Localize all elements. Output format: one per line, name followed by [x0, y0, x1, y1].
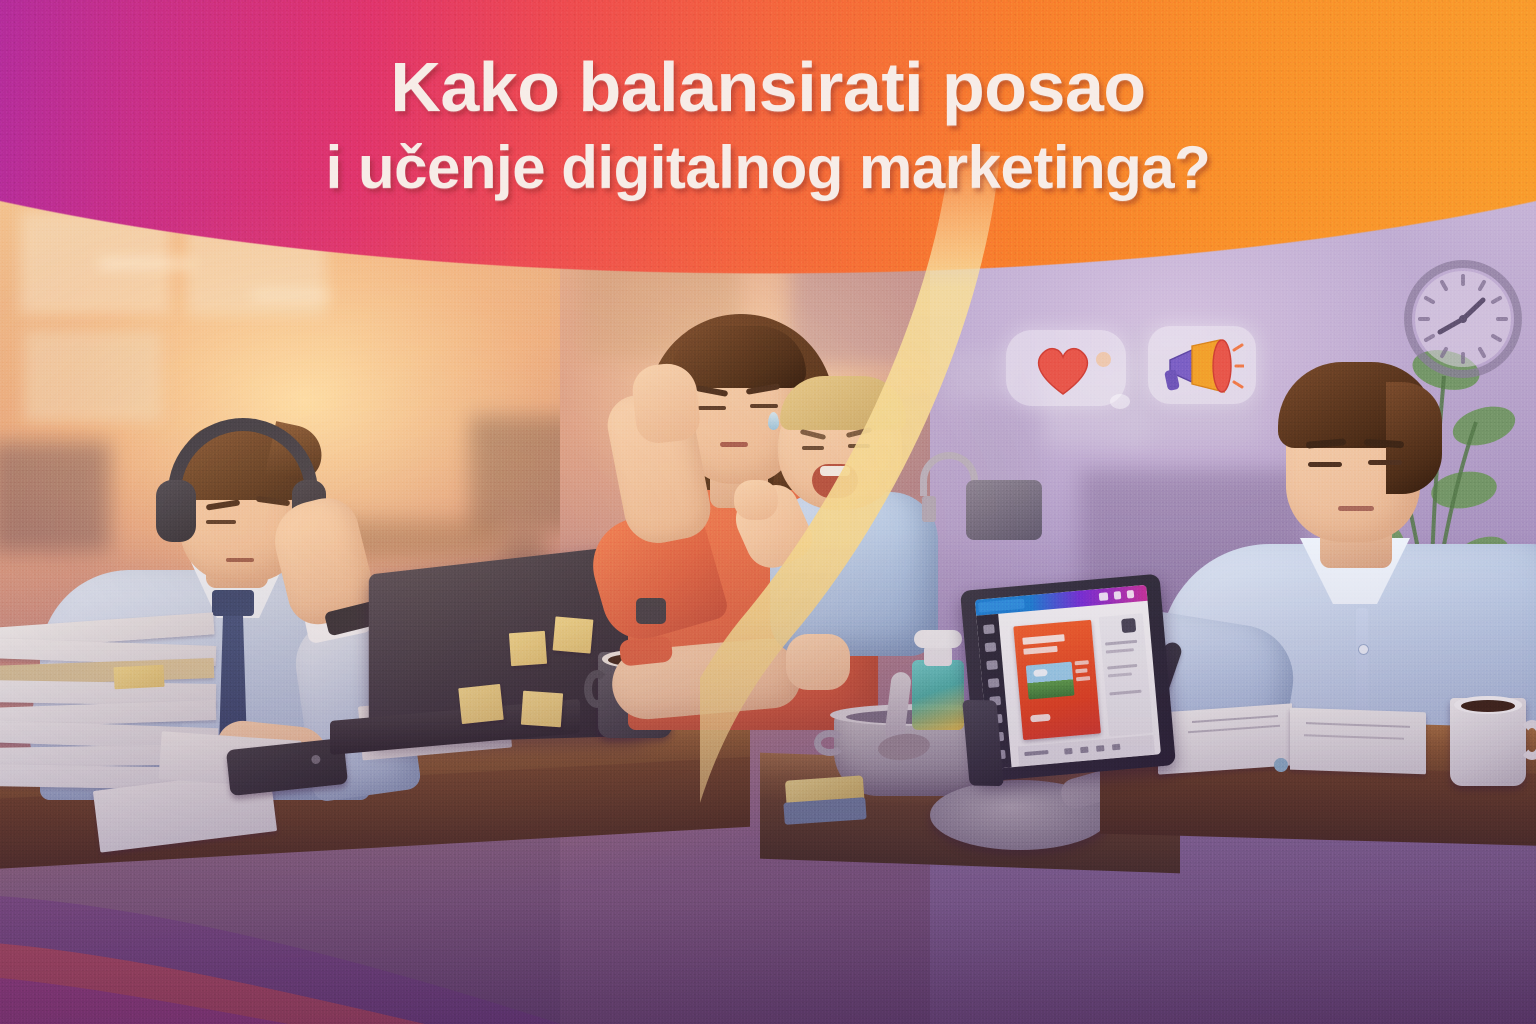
bubble-heart	[1006, 330, 1126, 406]
sticky-note	[458, 684, 504, 724]
worker-tie-knot	[212, 590, 254, 616]
baby-leg	[786, 634, 850, 690]
shirt-button	[1358, 644, 1369, 655]
topbar-icon[interactable]	[1127, 590, 1135, 599]
tablet-screen[interactable]	[975, 585, 1161, 769]
bottombar-icon[interactable]	[1112, 744, 1120, 751]
soap-dispenser	[906, 630, 968, 730]
bubble-tail	[1110, 394, 1130, 409]
notebook-left-page	[1158, 703, 1292, 774]
poster-text-line	[1075, 668, 1087, 673]
panel-text-line	[1106, 648, 1134, 653]
topbar-icon[interactable]	[1114, 591, 1122, 600]
learner-hair-side	[1386, 382, 1442, 494]
baby-fist	[734, 480, 778, 520]
soap-bottle	[912, 660, 964, 730]
worker-mouth	[226, 558, 254, 562]
soap-pump-head	[914, 630, 962, 648]
tool-icon[interactable]	[983, 624, 995, 634]
bottombar-icon[interactable]	[1096, 745, 1104, 752]
title-line-1: Kako balansirati posao	[0, 52, 1536, 123]
bottombar-icon[interactable]	[1080, 747, 1088, 754]
mother-wristwatch	[636, 598, 666, 624]
kitchen-pot-background	[966, 480, 1042, 540]
learner-mouth-slight-smile	[1338, 506, 1374, 511]
folder-label	[113, 665, 164, 690]
baby-eye-closed-right	[848, 444, 870, 448]
tool-icon[interactable]	[986, 660, 998, 670]
poster-title-line	[1023, 646, 1057, 655]
office-board-lower	[24, 330, 162, 422]
pot-handle-left	[814, 730, 846, 756]
baby-teeth	[820, 466, 850, 476]
notebook-binding-dot	[1274, 758, 1288, 772]
mother-eye-closed-left	[698, 406, 726, 410]
poster-cta-button	[1030, 714, 1051, 723]
tool-icon[interactable]	[985, 642, 997, 652]
poster-text-line	[1076, 676, 1090, 681]
poster-title-line	[1022, 634, 1064, 645]
megaphone-mouth-path	[1213, 340, 1231, 392]
poster-text-line	[1075, 660, 1089, 665]
tool-icon[interactable]	[988, 678, 1000, 688]
poster-image	[1026, 662, 1075, 700]
shield-icon	[1121, 618, 1136, 633]
learner-eye-right	[1368, 460, 1402, 465]
mother-mouth	[720, 442, 748, 447]
soap-neck	[924, 646, 952, 666]
bottombar-icon[interactable]	[1064, 748, 1072, 755]
panel-text-line	[1105, 640, 1137, 646]
coffee-mug-white	[1442, 694, 1536, 790]
baby-hair	[780, 376, 906, 430]
banner-image: Kako balansirati posao i učenje digitaln…	[0, 0, 1536, 1024]
phone-camera-icon	[311, 754, 321, 764]
page-title: Kako balansirati posao i učenje digitaln…	[0, 52, 1536, 199]
app-right-panel[interactable]	[1099, 613, 1153, 736]
panel-text-line	[1107, 664, 1137, 670]
learner-eye-left	[1308, 462, 1342, 467]
title-line-2: i učenje digitalnog marketinga?	[0, 137, 1536, 198]
poster-canvas[interactable]	[1013, 620, 1101, 740]
heart-sparkle	[1096, 352, 1111, 367]
sticky-note	[521, 691, 563, 728]
sticky-note	[509, 631, 547, 666]
worker-eye-closed	[206, 520, 236, 524]
baby-eye-closed-left	[802, 446, 824, 450]
headphones-earcup-left	[156, 480, 196, 542]
panel-text-line	[1108, 672, 1132, 677]
heart-icon-path	[1039, 349, 1088, 394]
megaphone-sound-lines	[1234, 345, 1244, 387]
bubble-megaphone	[1148, 326, 1256, 404]
mug-coffee	[1461, 700, 1515, 712]
panel-text-line	[1109, 690, 1141, 696]
notebook-right-page	[1290, 708, 1426, 775]
topbar-icon[interactable]	[1099, 592, 1109, 601]
open-notebook	[1158, 700, 1426, 778]
faucet-base	[922, 496, 936, 522]
